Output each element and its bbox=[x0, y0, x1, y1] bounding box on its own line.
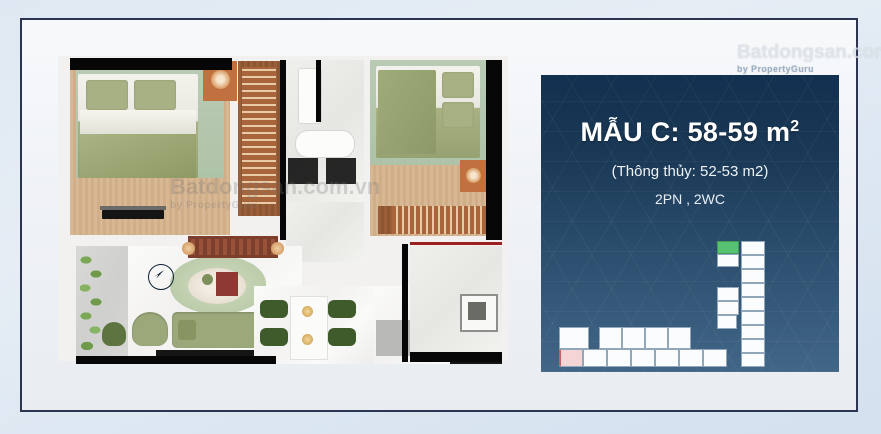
room-bathroom-main bbox=[286, 60, 364, 202]
unit-cell[interactable] bbox=[741, 283, 765, 297]
unit-cell[interactable] bbox=[741, 241, 765, 255]
furniture-wardrobe bbox=[238, 61, 280, 216]
unit-cell[interactable] bbox=[655, 349, 679, 367]
furniture-dining-chair bbox=[328, 300, 356, 318]
furniture-pillow bbox=[86, 80, 128, 110]
wall-exterior bbox=[410, 352, 502, 362]
unit-cell[interactable] bbox=[607, 349, 631, 367]
unit-cell[interactable] bbox=[741, 297, 765, 311]
watermark-batdongsan: Batdongsan.com.vn by PropertyGuru bbox=[737, 42, 881, 74]
furniture-pillow bbox=[442, 102, 474, 128]
panel-title: MẪU C: 58-59 m2 bbox=[541, 117, 839, 148]
unit-cell[interactable] bbox=[583, 349, 607, 367]
unit-cell[interactable] bbox=[679, 349, 703, 367]
unit-cell[interactable] bbox=[741, 339, 765, 353]
room-bedroom-second bbox=[370, 60, 488, 236]
wall-exterior bbox=[486, 60, 502, 240]
panel-room-count: 2PN , 2WC bbox=[541, 191, 839, 207]
furniture-dining-chair bbox=[328, 328, 356, 346]
unit-cell[interactable] bbox=[631, 349, 655, 367]
furniture-tv-console bbox=[188, 236, 278, 258]
unit-info-panel: MẪU C: 58-59 m2 (Thông thủy: 52-53 m2) 2… bbox=[541, 75, 839, 372]
unit-cell[interactable] bbox=[741, 353, 765, 367]
selected-unit[interactable] bbox=[717, 241, 739, 254]
unit-cell[interactable] bbox=[717, 301, 739, 315]
unit-cell[interactable] bbox=[559, 327, 589, 349]
furniture-pillow bbox=[442, 72, 474, 98]
furniture-armchair bbox=[132, 312, 168, 346]
wall-partition bbox=[316, 60, 321, 122]
compass-north-icon bbox=[148, 264, 174, 290]
unit-cell[interactable] bbox=[741, 269, 765, 283]
room-bathroom-second bbox=[410, 246, 502, 354]
unit-cell[interactable] bbox=[741, 255, 765, 269]
wall-exterior bbox=[76, 356, 162, 364]
wall-partition bbox=[402, 244, 408, 362]
furniture-outdoor-chair bbox=[102, 322, 126, 346]
unit-cell[interactable] bbox=[622, 327, 645, 349]
apartment-floor-plan-render: Batdongsan.com.vn by PropertyGuru bbox=[58, 56, 508, 361]
unit-cell[interactable] bbox=[599, 327, 622, 349]
wall-exterior bbox=[70, 58, 232, 70]
furniture-pillow bbox=[134, 80, 176, 110]
unit-cell[interactable] bbox=[717, 254, 739, 267]
unit-cell[interactable] bbox=[668, 327, 691, 349]
furniture-bench bbox=[102, 210, 164, 219]
unit-cell[interactable] bbox=[717, 315, 737, 329]
wall-exterior bbox=[162, 356, 276, 364]
furniture-dining-chair bbox=[260, 328, 288, 346]
unit-cell[interactable] bbox=[717, 287, 739, 301]
wall-accent-line bbox=[410, 242, 502, 245]
unit-cell[interactable] bbox=[741, 325, 765, 339]
unit-cell[interactable] bbox=[741, 311, 765, 325]
room-dining-area bbox=[254, 286, 374, 364]
marked-unit[interactable] bbox=[559, 349, 583, 367]
image-card: Batdongsan.com.vn by PropertyGuru MẪU C:… bbox=[20, 18, 858, 412]
room-balcony bbox=[76, 246, 128, 364]
furniture-dining-chair bbox=[260, 300, 288, 318]
decor-plant bbox=[80, 250, 102, 360]
panel-clear-area: (Thông thủy: 52-53 m2) bbox=[541, 163, 839, 180]
unit-cell[interactable] bbox=[703, 349, 727, 367]
building-floor-unit-map bbox=[541, 235, 839, 372]
unit-cell[interactable] bbox=[645, 327, 668, 349]
